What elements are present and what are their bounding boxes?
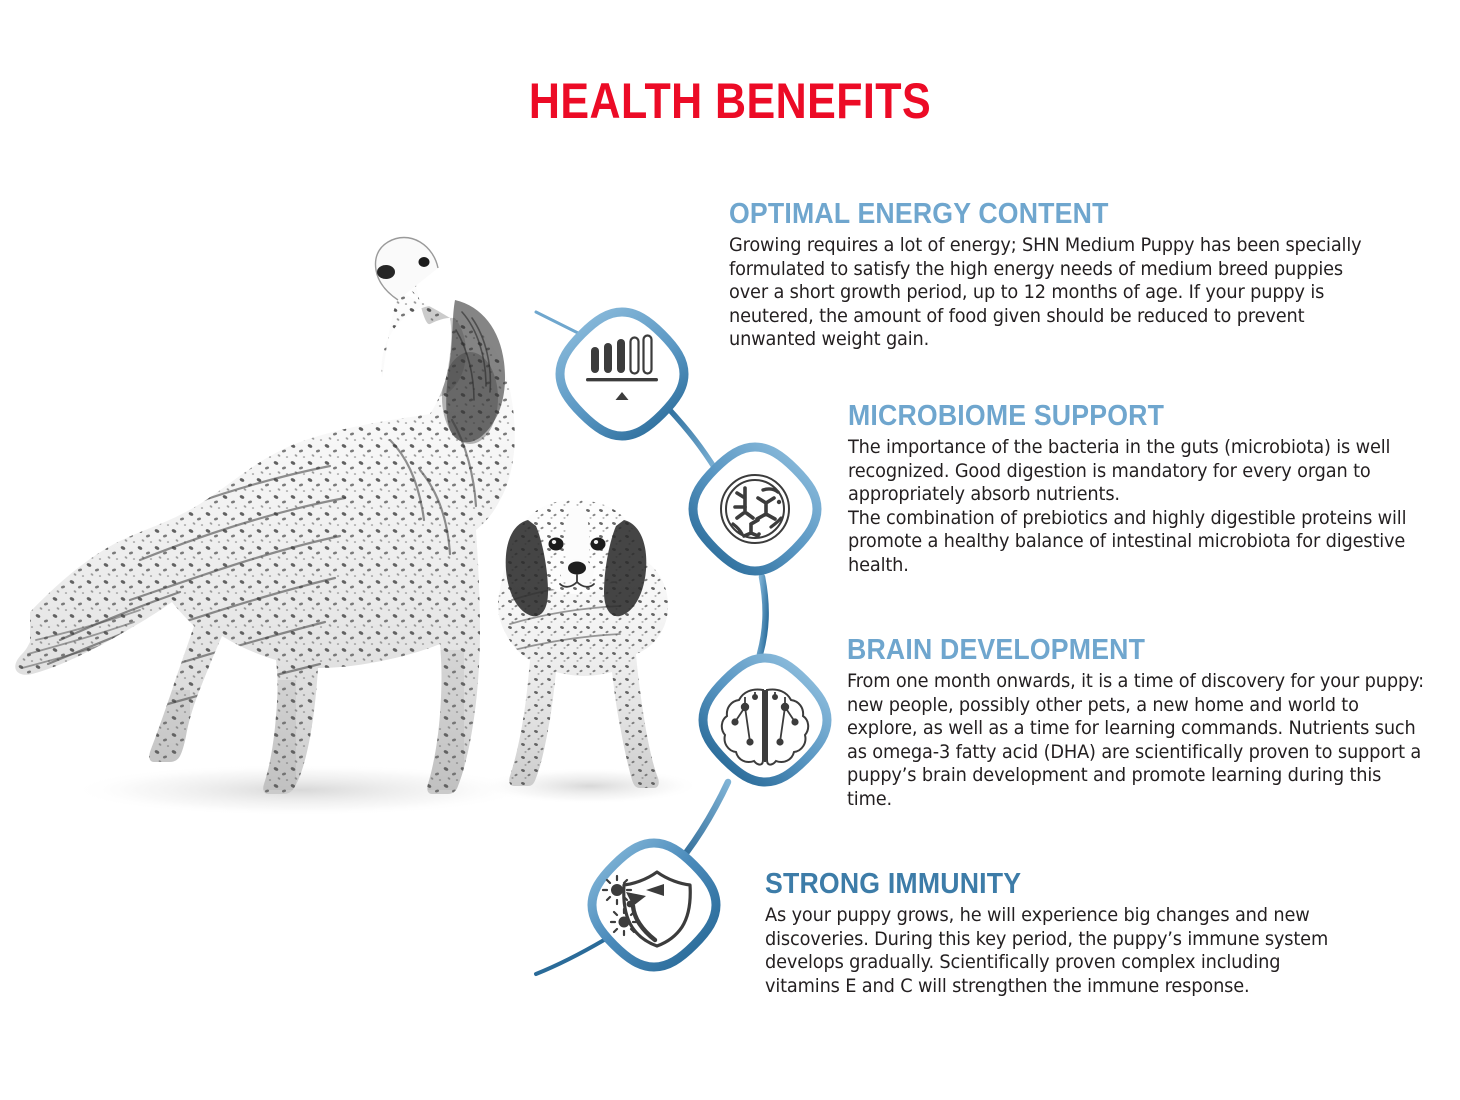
brain-icon [722,689,808,764]
connector-brain-to-immunity [672,782,728,870]
connector-line-out [536,940,604,974]
section-strong-immunity: STRONG IMMUNITY As your puppy grows, he … [765,869,1365,998]
puppy-photo [480,480,700,810]
page-title: HEALTH BENEFITS [102,72,1358,130]
health-benefits-page: HEALTH BENEFITS [0,0,1460,1100]
microbiome-petri-dish-icon [721,475,789,543]
connector-energy-to-microbiome [668,408,716,470]
connector-chain [536,312,766,974]
section-heading-microbiome: MICROBIOME SUPPORT [848,401,1382,432]
shield-immunity-icon [603,872,690,946]
adult-dog-head [376,238,506,443]
node-microbiome-support[interactable] [693,447,817,571]
section-body-microbiome-2: The combination of prebiotics and highly… [848,507,1411,578]
section-microbiome-support: MICROBIOME SUPPORT The importance of the… [848,401,1428,577]
section-brain-development: BRAIN DEVELOPMENT From one month onwards… [847,635,1447,811]
connector-microbiome-to-brain [760,577,766,654]
section-heading-brain: BRAIN DEVELOPMENT [847,635,1399,666]
photo-ground-shadow [70,764,700,816]
section-heading-immunity: STRONG IMMUNITY [765,869,1317,900]
section-optimal-energy-content: OPTIMAL ENERGY CONTENT Growing requires … [729,199,1401,352]
puppy-head [506,502,647,616]
node-strong-immunity[interactable] [592,843,716,967]
section-body-energy: Growing requires a lot of energy; SHN Me… [729,234,1381,352]
connector-line-in [536,312,586,337]
node-brain-development[interactable] [703,658,827,782]
section-body-immunity: As your puppy grows, he will experience … [765,904,1347,998]
section-body-microbiome-1: The importance of the bacteria in the gu… [848,436,1411,507]
section-body-brain: From one month onwards, it is a time of … [847,670,1429,811]
section-heading-energy: OPTIMAL ENERGY CONTENT [729,199,1347,230]
adult-dog-photo [0,230,560,830]
node-optimal-energy-content[interactable] [560,312,684,436]
energy-bars-icon [586,336,658,401]
